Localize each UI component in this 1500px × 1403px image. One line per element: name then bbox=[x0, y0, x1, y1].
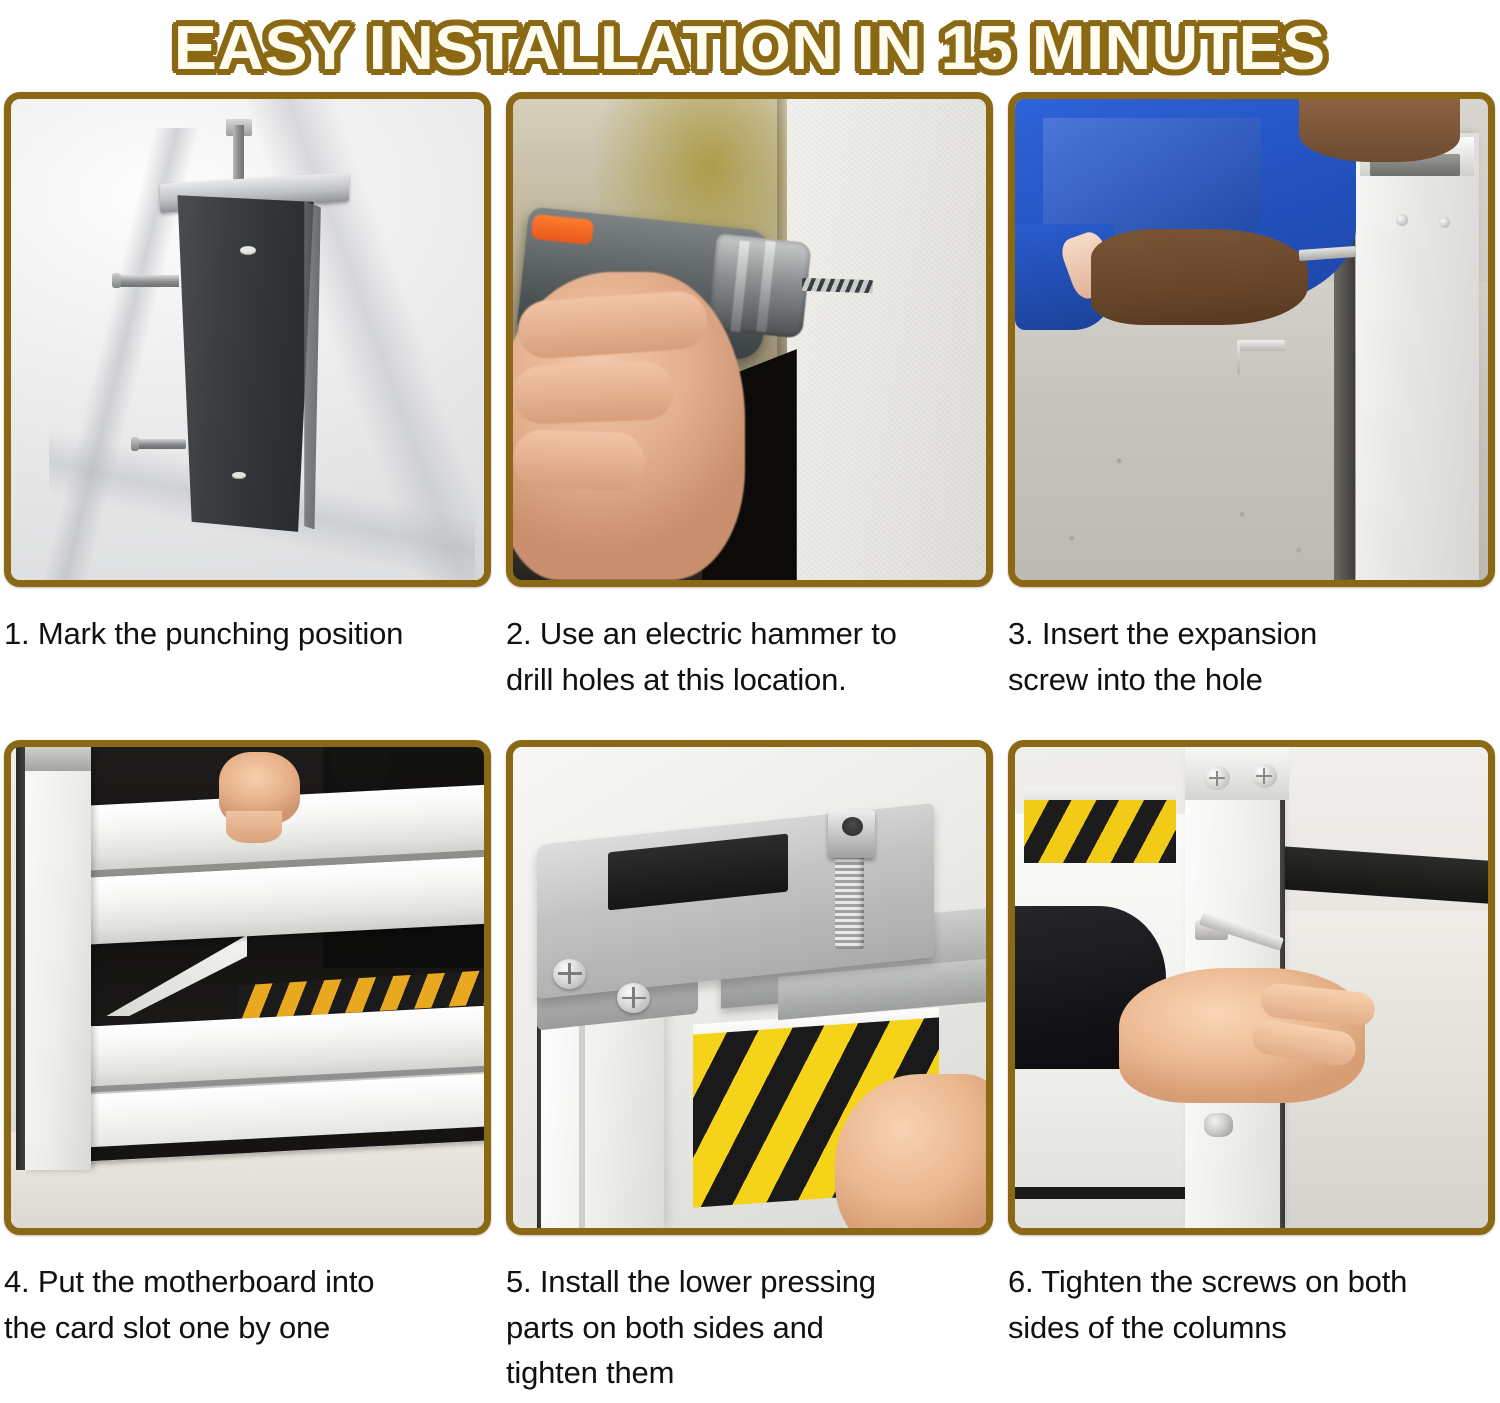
caption-line: the card slot one by one bbox=[4, 1305, 484, 1351]
white-column bbox=[1356, 133, 1479, 580]
step-photo-frame-2 bbox=[506, 92, 993, 587]
step-photo-frame-1 bbox=[4, 92, 491, 587]
step-photo-frame-6 bbox=[1008, 740, 1495, 1235]
caption-line: 6. Tighten the screws on both bbox=[1008, 1259, 1488, 1305]
step-caption-2: 2. Use an electric hammer to drill holes… bbox=[506, 611, 986, 702]
worker-arm bbox=[1091, 229, 1309, 325]
steps-row-1: 1. Mark the punching position bbox=[0, 92, 1500, 702]
step-photo-frame-3 bbox=[1008, 92, 1495, 587]
white-column bbox=[25, 747, 91, 1170]
step-photo-frame-4 bbox=[4, 740, 491, 1235]
title-banner: EASY INSTALLATION IN 15 MINUTES bbox=[0, 0, 1500, 92]
step-card-4: 4. Put the motherboard into the card slo… bbox=[4, 740, 499, 1396]
photo-worker-inserting-expansion-screw bbox=[1015, 99, 1488, 580]
hand-holding-board bbox=[219, 752, 299, 824]
phillips-screw bbox=[617, 983, 650, 1013]
hazard-stripe bbox=[1024, 800, 1175, 863]
steps-row-2: 4. Put the motherboard into the card slo… bbox=[0, 740, 1500, 1396]
step-photo-frame-5 bbox=[506, 740, 993, 1235]
step-caption-4: 4. Put the motherboard into the card slo… bbox=[4, 1259, 484, 1350]
lower-screw bbox=[1204, 1113, 1232, 1137]
step-card-3: 3. Insert the expansion screw into the h… bbox=[1008, 92, 1500, 702]
mark-hole-lower bbox=[232, 472, 245, 480]
row-spacer bbox=[0, 702, 1500, 740]
caption-line: drill holes at this location. bbox=[506, 657, 986, 703]
step-caption-1: 1. Mark the punching position bbox=[4, 611, 484, 657]
step-card-5: 5. Install the lower pressing parts on b… bbox=[506, 740, 1001, 1396]
photo-column-post-with-mounting-pins bbox=[11, 99, 484, 580]
caption-line: parts on both sides and bbox=[506, 1305, 986, 1351]
top-bolt-stem bbox=[233, 125, 243, 183]
page-title: EASY INSTALLATION IN 15 MINUTES bbox=[174, 13, 1326, 84]
step-card-2: 2. Use an electric hammer to drill holes… bbox=[506, 92, 1001, 702]
phillips-screw bbox=[1252, 764, 1278, 788]
column-cap bbox=[25, 747, 91, 771]
mounting-pin-upper bbox=[117, 275, 178, 288]
finger bbox=[513, 361, 675, 424]
hex-bolt-socket bbox=[842, 817, 863, 836]
allen-key-icon bbox=[1237, 340, 1284, 352]
caption-line: 3. Insert the expansion bbox=[1008, 611, 1488, 657]
hex-bolt-thread bbox=[835, 853, 864, 949]
photo-hand-drilling-wall-with-hammer-drill bbox=[513, 99, 986, 580]
caption-line: 5. Install the lower pressing bbox=[506, 1259, 986, 1305]
textured-wall bbox=[787, 99, 986, 580]
caption-line: 2. Use an electric hammer to bbox=[506, 611, 986, 657]
bottom-rail bbox=[1015, 1187, 1195, 1199]
photo-hand-tightening-screws-with-allen-key bbox=[1015, 747, 1488, 1228]
caption-line: sides of the columns bbox=[1008, 1305, 1488, 1351]
caption-line: screw into the hole bbox=[1008, 657, 1488, 703]
infographic-page: EASY INSTALLATION IN 15 MINUTES bbox=[0, 0, 1500, 1403]
worker-upper-hand bbox=[1299, 99, 1460, 162]
step-caption-6: 6. Tighten the screws on both sides of t… bbox=[1008, 1259, 1488, 1350]
mounting-pin-lower bbox=[136, 439, 186, 450]
photo-boards-sliding-into-column-card-slots bbox=[11, 747, 484, 1228]
step-card-1: 1. Mark the punching position bbox=[4, 92, 499, 702]
phillips-screw bbox=[553, 959, 586, 989]
caption-line: tighten them bbox=[506, 1350, 986, 1396]
step-caption-5: 5. Install the lower pressing parts on b… bbox=[506, 1259, 986, 1396]
photo-steel-bracket-pressing-part-with-bolt bbox=[513, 747, 986, 1228]
step-card-6: 6. Tighten the screws on both sides of t… bbox=[1008, 740, 1500, 1396]
column-screw bbox=[1396, 214, 1407, 226]
step-caption-3: 3. Insert the expansion screw into the h… bbox=[1008, 611, 1488, 702]
caption-line: 4. Put the motherboard into bbox=[4, 1259, 484, 1305]
phillips-screw bbox=[1204, 766, 1230, 790]
caption-line: 1. Mark the punching position bbox=[4, 611, 484, 657]
finger bbox=[513, 429, 646, 491]
